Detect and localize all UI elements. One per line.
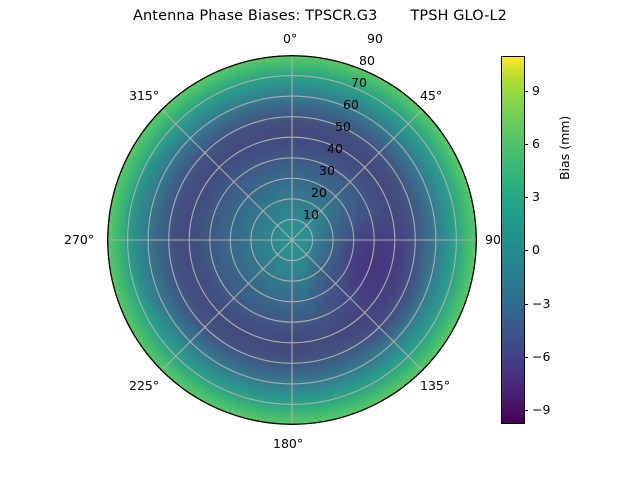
radial-tick-70: 70 <box>351 75 367 90</box>
colorbar-tick-label-neg3: −3 <box>532 296 550 311</box>
colorbar-tick-6 <box>524 144 528 145</box>
colorbar-tick-9 <box>524 91 528 92</box>
angle-tick-45: 45° <box>420 88 442 103</box>
radial-tick-20: 20 <box>311 185 327 200</box>
colorbar-tick-label-0: 0 <box>532 242 540 257</box>
colorbar-tick-label-neg6: −6 <box>532 349 550 364</box>
radial-tick-50: 50 <box>335 119 351 134</box>
colorbar-tick-3 <box>524 197 528 198</box>
polar-data-region <box>107 55 477 425</box>
angle-tick-90: 90 <box>485 232 501 247</box>
colorbar-tick-label-6: 6 <box>532 136 540 151</box>
angle-tick-0: 0° <box>283 31 297 46</box>
radial-tick-60: 60 <box>343 97 359 112</box>
colorbar-tick-0 <box>524 250 528 251</box>
angle-tick-180: 180° <box>273 436 303 451</box>
colorbar-gradient <box>501 56 525 424</box>
radial-tick-80: 80 <box>359 53 375 68</box>
radial-tick-10: 10 <box>303 207 319 222</box>
polar-axes: 10 20 30 40 50 60 70 80 90 0° 45° 90 135… <box>107 55 477 425</box>
colorbar <box>501 56 525 424</box>
polar-contour-plot <box>107 55 477 425</box>
colorbar-tick-neg3 <box>524 304 528 305</box>
radial-tick-40: 40 <box>327 141 343 156</box>
angle-tick-315: 315° <box>129 88 159 103</box>
angle-tick-225: 225° <box>129 378 159 393</box>
colorbar-tick-label-3: 3 <box>532 189 540 204</box>
colorbar-tick-label-9: 9 <box>532 83 540 98</box>
figure-canvas: Antenna Phase Biases: TPSCR.G3 TPSH GLO-… <box>0 0 640 480</box>
radial-tick-30: 30 <box>319 163 335 178</box>
angle-tick-270: 270° <box>64 232 94 247</box>
colorbar-axis-label: Bias (mm) <box>557 116 572 180</box>
colorbar-tick-label-neg9: −9 <box>532 402 550 417</box>
figure-title: Antenna Phase Biases: TPSCR.G3 TPSH GLO-… <box>0 8 640 24</box>
radial-tick-90: 90 <box>367 31 383 46</box>
angle-tick-135: 135° <box>420 378 450 393</box>
colorbar-tick-neg6 <box>524 357 528 358</box>
polar-grid-spokes <box>107 55 477 425</box>
colorbar-tick-neg9 <box>524 410 528 411</box>
